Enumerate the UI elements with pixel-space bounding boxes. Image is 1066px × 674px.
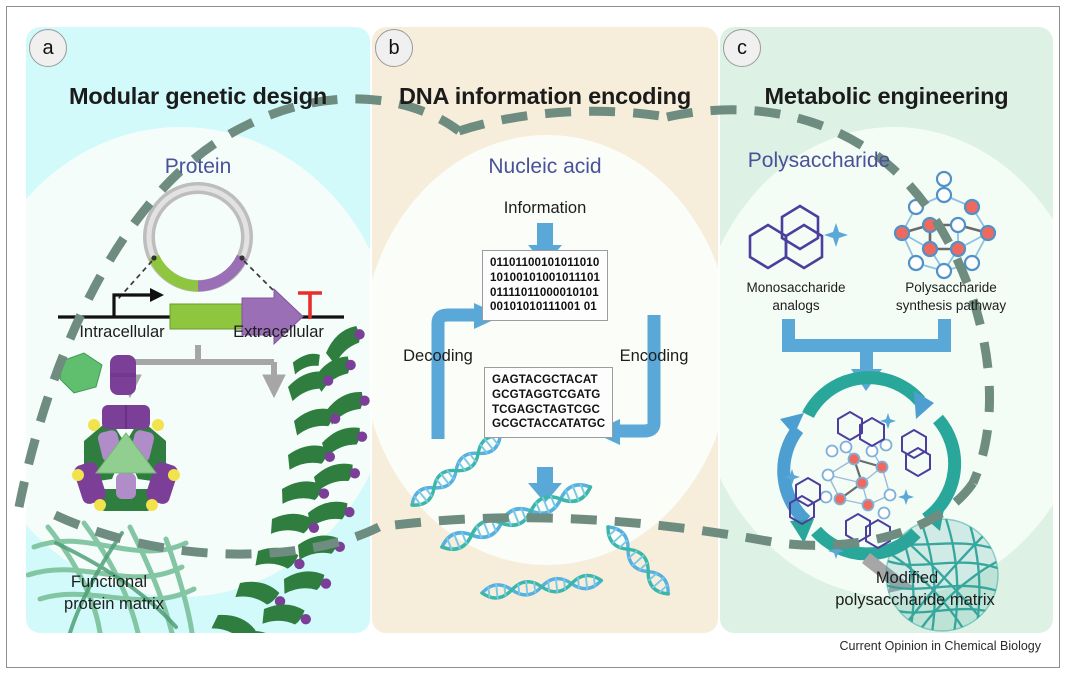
panel-c-pathway-label-2: synthesis pathway xyxy=(876,298,1026,314)
panel-c-matrix-label-1: Modified xyxy=(832,569,982,588)
panel-a: Modular genetic design Protein xyxy=(26,27,370,633)
panel-c-subtitle: Polysaccharide xyxy=(720,149,992,173)
panel-a-matrix-label-1: Functional xyxy=(34,573,184,592)
panel-c-lens xyxy=(720,127,1053,597)
panel-c-badge: c xyxy=(723,29,761,67)
panel-a-matrix-label-2: protein matrix xyxy=(26,595,202,614)
panel-c-pathway-label-1: Polysaccharide xyxy=(876,280,1026,296)
panel-a-badge: a xyxy=(29,29,67,67)
dna-helix-4 xyxy=(481,573,602,599)
panel-c-monosaccharide-label-1: Monosaccharide xyxy=(730,280,862,296)
panel-b: DNA information encoding Nucleic acid In… xyxy=(372,27,718,633)
protein-helix-segment xyxy=(211,609,257,633)
panel-b-subtitle: Nucleic acid xyxy=(372,155,718,179)
dna-sequence-box: GAGTACGCTACAT GCGTAGGTCGATG TCGAGCTAGTCG… xyxy=(484,367,613,438)
panel-c-title: Metabolic engineering xyxy=(720,83,1053,110)
protein-helix-segment xyxy=(284,571,325,594)
panel-a-subtitle: Protein xyxy=(26,155,370,179)
panel-a-intracellular-label: Intracellular xyxy=(56,323,188,342)
panel-a-title: Modular genetic design xyxy=(26,83,370,110)
figure-root: Modular genetic design Protein xyxy=(0,0,1066,674)
panel-c-matrix-label-2: polysaccharide matrix xyxy=(790,591,1040,610)
panel-b-encoding-label: Encoding xyxy=(594,347,714,366)
panel-b-badge: b xyxy=(375,29,413,67)
binary-code-box: 01101100101011010 10100101001011101 0111… xyxy=(482,250,608,321)
panel-c-monosaccharide-label-2: analogs xyxy=(730,298,862,314)
panel-a-extracellular-label: Extracellular xyxy=(206,323,351,342)
protein-helix-terminus xyxy=(275,596,285,606)
panel-c: Metabolic engineering Polysaccharide xyxy=(720,27,1053,633)
binary-lines: 01101100101011010 10100101001011101 0111… xyxy=(490,256,600,313)
panel-b-information-label: Information xyxy=(372,199,718,218)
figure-frame: Modular genetic design Protein xyxy=(6,6,1060,668)
protein-helix-terminus xyxy=(301,614,311,624)
dna-lines: GAGTACGCTACAT GCGTAGGTCGATG TCGAGCTAGTCG… xyxy=(492,373,605,430)
protein-helix-segment xyxy=(262,602,305,628)
panel-b-decoding-label: Decoding xyxy=(378,347,498,366)
protein-helix-segment xyxy=(234,626,279,633)
panel-b-title: DNA information encoding xyxy=(372,83,718,110)
protein-helix-terminus xyxy=(321,578,331,588)
panel-a-lens xyxy=(26,127,370,597)
figure-credit: Current Opinion in Chemical Biology xyxy=(840,639,1041,653)
protein-helix-terminus xyxy=(335,542,345,552)
